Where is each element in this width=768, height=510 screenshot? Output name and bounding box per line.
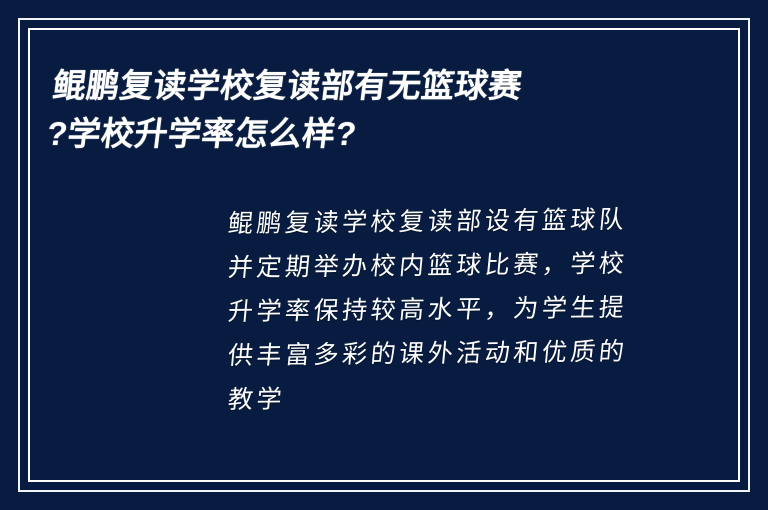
- headline-line-2: ?学校升学率怎么样?: [44, 110, 610, 158]
- headline-title: 鲲鹏复读学校复读部有无篮球赛 ?学校升学率怎么样?: [44, 62, 616, 158]
- body-line-5: 教学: [226, 374, 655, 422]
- headline-line-1: 鲲鹏复读学校复读部有无篮球赛: [50, 62, 616, 110]
- poster-canvas: 鲲鹏复读学校复读部有无篮球赛 ?学校升学率怎么样? 鲲鹏复读学校复读部设有篮球队…: [0, 0, 768, 510]
- body-line-1: 鲲鹏复读学校复读部设有篮球队: [226, 198, 655, 246]
- body-paragraph: 鲲鹏复读学校复读部设有篮球队 并定期举办校内篮球比赛，学校 升学率保持较高水平，…: [228, 202, 652, 422]
- body-line-3: 升学率保持较高水平，为学生提: [226, 286, 655, 334]
- body-line-4: 供丰富多彩的课外活动和优质的: [226, 330, 655, 378]
- body-line-2: 并定期举办校内篮球比赛，学校: [226, 242, 655, 290]
- poster-content: 鲲鹏复读学校复读部有无篮球赛 ?学校升学率怎么样? 鲲鹏复读学校复读部设有篮球队…: [30, 30, 738, 480]
